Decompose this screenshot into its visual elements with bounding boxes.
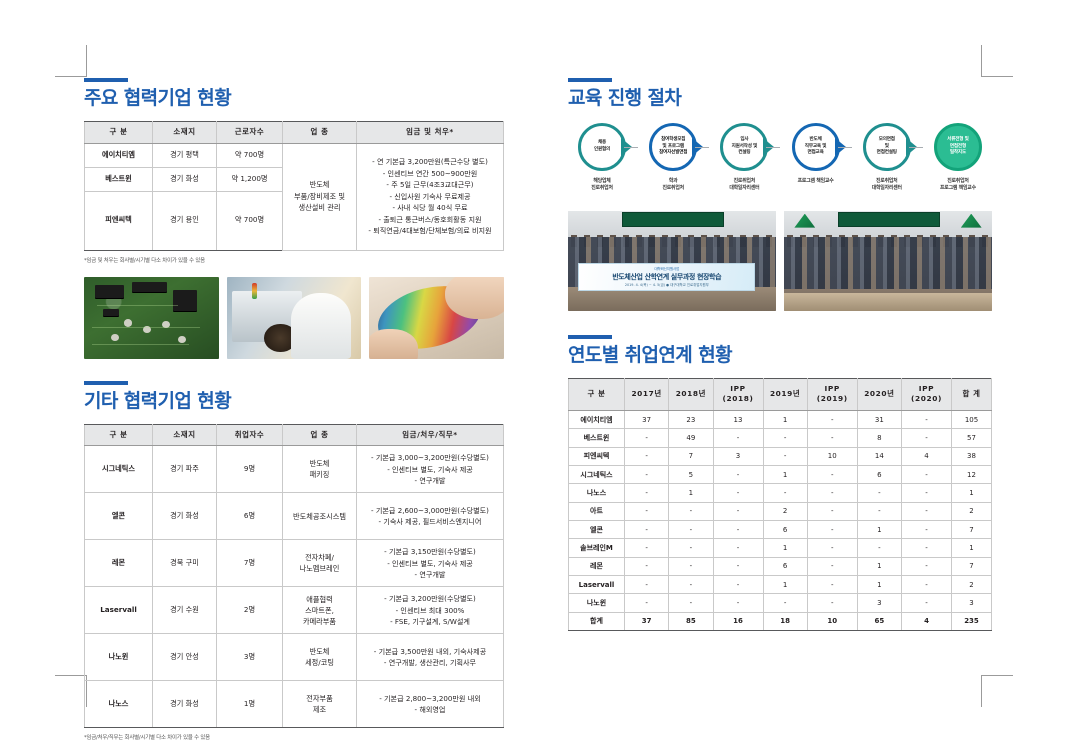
company-name: 피엔씨텍 — [85, 191, 153, 250]
value-cell-1: 5 — [669, 465, 713, 483]
value-cell-7: 57 — [952, 429, 992, 447]
value-cell-4: - — [807, 539, 857, 557]
business-type-cell: 애플협력스마트폰,카메라부품 — [283, 587, 357, 634]
business-type-cell: 전자부품제조 — [283, 681, 357, 728]
value-cell-4: - — [807, 429, 857, 447]
section-rule — [568, 335, 612, 339]
business-line: 반도체 — [286, 458, 353, 469]
company-workers: 약 700명 — [217, 191, 283, 250]
table-row: 에이치티엠 경기 평택 약 700명 반도체 부품/장비제조 및 생산설비 관리… — [85, 143, 504, 167]
value-cell-0: - — [625, 539, 669, 557]
table-row: Laservall경기 수원2명애플협력스마트폰,카메라부품- 기본급 3,20… — [85, 587, 504, 634]
value-cell-4: - — [807, 594, 857, 612]
document-page: 주요 협력기업 현황 구 분 소재지 근로자수 업 종 임금 및 처우* — [0, 0, 1068, 752]
value-cell-5: 31 — [857, 410, 901, 428]
completion-ceremony-photo — [784, 211, 992, 311]
table-total-row: 합계3785161810654235 — [569, 612, 992, 630]
wage-item: - 사내 식당 월 40식 무료 — [360, 202, 500, 213]
hired-count: 1명 — [217, 681, 283, 728]
company-name: 합계 — [569, 612, 625, 630]
company-name: 엘콘 — [85, 493, 153, 540]
flow-step-label: 입사지원서작성 및컨설팅 — [732, 137, 758, 157]
business-line: 전자부품 — [286, 693, 353, 704]
value-cell-3: 1 — [763, 575, 807, 593]
company-name: 솔브레인M — [569, 539, 625, 557]
col-header-hired: 취업자수 — [217, 424, 283, 446]
company-name: 에이치티엠 — [569, 410, 625, 428]
flow-step-owner: 진로취업처대학일자리센터 — [872, 178, 902, 193]
table-row: 나노스경기 화성1명전자부품제조- 기본급 2,800~3,200만원 내외- … — [85, 681, 504, 728]
value-cell-2: 13 — [713, 410, 763, 428]
value-cell-2: - — [713, 465, 763, 483]
value-cell-0: - — [625, 520, 669, 538]
wage-duty-cell: - 기본급 3,500만원 내외, 기숙사제공- 연구개발, 생산관리, 기획사… — [357, 634, 504, 681]
wage-duty-cell: - 기본급 3,150만원(수당별도)- 인센티브 별도, 기숙사 제공- 연구… — [357, 540, 504, 587]
section-rule — [84, 381, 128, 385]
value-cell-5: 1 — [857, 520, 901, 538]
table-row: 시그네틱스-5-1-6-12 — [569, 465, 992, 483]
value-cell-5: 1 — [857, 557, 901, 575]
cleanroom-worker-photo — [227, 277, 362, 359]
value-cell-1: 23 — [669, 410, 713, 428]
education-process-flow: 채용인원협의해당업체진로취업처참여학생모집및 프로그램참여자선발면접학과진로취업… — [568, 123, 992, 193]
flow-step-circle: 반도체직무교육 및면접교육 — [792, 123, 840, 171]
company-location: 경기 안성 — [153, 634, 217, 681]
section-title: 연도별 취업연계 현황 — [568, 345, 992, 366]
value-cell-5: 65 — [857, 612, 901, 630]
business-line: 패키징 — [286, 469, 353, 480]
value-cell-2: - — [713, 557, 763, 575]
company-name: 나노윈 — [569, 594, 625, 612]
hired-count: 3명 — [217, 634, 283, 681]
flow-step-owner: 학과진로취업처 — [662, 178, 684, 193]
table-header-row: 구 분2017년2018년IPP (2018)2019년IPP (2019)20… — [569, 378, 992, 410]
value-cell-0: 37 — [625, 410, 669, 428]
value-cell-3: - — [763, 594, 807, 612]
value-cell-0: - — [625, 465, 669, 483]
col-header-business: 업 종 — [283, 424, 357, 446]
value-cell-7: 1 — [952, 484, 992, 502]
business-line-2: 부품/장비제조 및 — [286, 191, 353, 203]
value-cell-6: - — [902, 484, 952, 502]
flow-step-4[interactable]: 반도체직무교육 및면접교육프로그램 책임교수 — [784, 123, 848, 185]
company-name: 베스트윈 — [569, 429, 625, 447]
flow-step-label: 서류전형 및면접전형밀착지도 — [947, 137, 969, 157]
wage-duty-cell: - 기본급 3,000~3,200만원(수당별도)- 인센티브 별도, 기숙사 … — [357, 446, 504, 493]
value-cell-2: 3 — [713, 447, 763, 465]
value-cell-2: - — [713, 484, 763, 502]
table-row: 나노윈-----3-3 — [569, 594, 992, 612]
flow-step-circle: 참여학생모집및 프로그램참여자선발면접 — [649, 123, 697, 171]
table-row: Laservall---1-1-2 — [569, 575, 992, 593]
flow-step-owner: 진로취업처대학일자리센터 — [729, 178, 759, 193]
value-cell-7: 7 — [952, 557, 992, 575]
value-cell-6: - — [902, 410, 952, 428]
value-cell-0: - — [625, 575, 669, 593]
other-partner-table: 구 분 소재지 취업자수 업 종 임금/처우/직무* 시그네틱스경기 파주9명반… — [84, 424, 504, 729]
business-type-cell: 반도체공조시스템 — [283, 493, 357, 540]
wage-duty-item: - 연구개발 — [360, 569, 500, 580]
value-cell-2: - — [713, 539, 763, 557]
value-cell-3: - — [763, 484, 807, 502]
value-cell-6: - — [902, 520, 952, 538]
value-cell-4: - — [807, 557, 857, 575]
company-name: Laservall — [569, 575, 625, 593]
company-name: 나노스 — [569, 484, 625, 502]
table-row: 엘콘경기 화성6명반도체공조시스템- 기본급 2,600~3,000만원(수당별… — [85, 493, 504, 540]
value-cell-7: 2 — [952, 575, 992, 593]
business-line: 나노멤브레인 — [286, 563, 353, 574]
company-workers: 약 1,200명 — [217, 167, 283, 191]
value-cell-1: - — [669, 539, 713, 557]
flow-step-owner: 프로그램 책임교수 — [798, 178, 834, 185]
value-cell-6: - — [902, 429, 952, 447]
value-cell-2: - — [713, 502, 763, 520]
company-location: 경기 화성 — [153, 493, 217, 540]
crop-mark-bottom-right — [981, 675, 1013, 707]
company-name: 아트 — [569, 502, 625, 520]
wage-duty-item: - 기본급 3,000~3,200만원(수당별도) — [360, 452, 500, 463]
value-cell-6: - — [902, 539, 952, 557]
wage-duty-cell: - 기본급 2,800~3,200만원 내외- 해외영업 — [357, 681, 504, 728]
value-cell-6: - — [902, 502, 952, 520]
value-cell-5: - — [857, 484, 901, 502]
wage-duty-item: - 연구개발 — [360, 475, 500, 486]
wage-duty-item: - 기본급 2,600~3,000만원(수당별도) — [360, 505, 500, 516]
flow-step-owner: 해당업체진로취업처 — [591, 178, 613, 193]
table-row: 레몬경북 구미7명전자차폐/나노멤브레인- 기본급 3,150만원(수당별도)-… — [85, 540, 504, 587]
value-cell-7: 7 — [952, 520, 992, 538]
flow-step-6[interactable]: 서류전형 및면접전형밀착지도진로취업처프로그램 책임교수 — [926, 123, 990, 193]
value-cell-2: - — [713, 575, 763, 593]
section-rule — [568, 78, 612, 82]
banner-main-text: 반도체산업 산학연계 실무과정 현장학습 — [612, 272, 721, 282]
hired-count: 6명 — [217, 493, 283, 540]
section-yearly-employment: 연도별 취업연계 현황 구 분2017년2018년IPP (2018)2019년… — [568, 335, 992, 631]
wage-duty-cell: - 기본급 3,200만원(수당별도)- 인센티브 최대 300%- FSE, … — [357, 587, 504, 634]
value-cell-7: 12 — [952, 465, 992, 483]
crop-mark-top-right — [981, 45, 1013, 77]
value-cell-6: 4 — [902, 612, 952, 630]
value-cell-3: 18 — [763, 612, 807, 630]
pcb-board-photo — [84, 277, 219, 359]
value-cell-0: - — [625, 557, 669, 575]
value-cell-5: 8 — [857, 429, 901, 447]
flow-step-1[interactable]: 채용인원협의해당업체진로취업처 — [570, 123, 634, 193]
business-line: 카메라부품 — [286, 616, 353, 627]
col-header-8: 합 계 — [952, 378, 992, 410]
col-header-4: 2019년 — [763, 378, 807, 410]
section-title: 교육 진행 절차 — [568, 88, 992, 109]
table-header-row: 구 분 소재지 근로자수 업 종 임금 및 처우* — [85, 121, 504, 143]
value-cell-3: - — [763, 429, 807, 447]
col-header-3: IPP (2018) — [713, 378, 763, 410]
hired-count: 2명 — [217, 587, 283, 634]
value-cell-1: - — [669, 520, 713, 538]
col-header-business: 업 종 — [283, 121, 357, 143]
flow-connector-line — [909, 147, 923, 148]
value-cell-5: 3 — [857, 594, 901, 612]
table-row: 에이치티엠3723131-31-105 — [569, 410, 992, 428]
company-name: 엘콘 — [569, 520, 625, 538]
business-type-cell: 전자차폐/나노멤브레인 — [283, 540, 357, 587]
wage-item: - 주 5일 근무(4조3교대근무) — [360, 179, 500, 190]
value-cell-7: 105 — [952, 410, 992, 428]
company-name: 나노윈 — [85, 634, 153, 681]
wage-item: - 신입사원 기숙사 무료제공 — [360, 191, 500, 202]
value-cell-2: - — [713, 594, 763, 612]
company-location: 경기 화성 — [153, 167, 217, 191]
flow-connector-line — [695, 147, 709, 148]
col-header-0: 구 분 — [569, 378, 625, 410]
business-line: 애플협력 — [286, 594, 353, 605]
table-row: 시그네틱스경기 파주9명반도체패키징- 기본급 3,000~3,200만원(수당… — [85, 446, 504, 493]
value-cell-5: - — [857, 502, 901, 520]
company-name: Laservall — [85, 587, 153, 634]
value-cell-5: - — [857, 539, 901, 557]
wage-duty-item: - 기본급 3,200만원(수당별도) — [360, 593, 500, 604]
hired-count: 9명 — [217, 446, 283, 493]
business-line: 스마트폰, — [286, 605, 353, 616]
wage-duty-item: - 기본급 2,800~3,200만원 내외 — [360, 693, 500, 704]
value-cell-0: - — [625, 594, 669, 612]
col-header-location: 소재지 — [153, 121, 217, 143]
col-header-division: 구 분 — [85, 424, 153, 446]
value-cell-3: 2 — [763, 502, 807, 520]
flow-step-circle: 입사지원서작성 및컨설팅 — [720, 123, 768, 171]
value-cell-4: 10 — [807, 447, 857, 465]
left-photo-strip — [84, 277, 504, 359]
value-cell-1: 1 — [669, 484, 713, 502]
value-cell-6: - — [902, 557, 952, 575]
value-cell-5: 14 — [857, 447, 901, 465]
right-column: 교육 진행 절차 채용인원협의해당업체진로취업처참여학생모집및 프로그램참여자선… — [568, 78, 992, 631]
wage-duty-item: - 인센티브 별도, 기숙사 제공 — [360, 464, 500, 475]
flow-connector-line — [766, 147, 780, 148]
value-cell-0: - — [625, 429, 669, 447]
wage-duty-item: - 기본급 3,150만원(수당별도) — [360, 546, 500, 557]
business-type-cell: 반도체세정/코팅 — [283, 634, 357, 681]
value-cell-6: - — [902, 594, 952, 612]
value-cell-4: - — [807, 484, 857, 502]
wage-duty-cell: - 기본급 2,600~3,000만원(수당별도)- 기숙사 제공, 필드서비스… — [357, 493, 504, 540]
col-header-2: 2018년 — [669, 378, 713, 410]
table-row: 나노스-1-----1 — [569, 484, 992, 502]
flow-step-label: 모의면접및면접컨설팅 — [877, 137, 897, 157]
flow-step-circle: 채용인원협의 — [578, 123, 626, 171]
value-cell-1: - — [669, 557, 713, 575]
company-location: 경북 구미 — [153, 540, 217, 587]
value-cell-7: 235 — [952, 612, 992, 630]
col-header-1: 2017년 — [625, 378, 669, 410]
flow-step-3[interactable]: 입사지원서작성 및컨설팅진로취업처대학일자리센터 — [712, 123, 776, 193]
table-row: 엘콘---6-1-7 — [569, 520, 992, 538]
value-cell-3: 6 — [763, 557, 807, 575]
table-row: 아트---2---2 — [569, 502, 992, 520]
flow-step-5[interactable]: 모의면접및면접컨설팅진로취업처대학일자리센터 — [855, 123, 919, 193]
value-cell-4: - — [807, 502, 857, 520]
col-header-wage-duty: 임금/처우/직무* — [357, 424, 504, 446]
business-line-1: 반도체 — [286, 179, 353, 191]
flow-step-circle: 서류전형 및면접전형밀착지도 — [934, 123, 982, 171]
col-header-location: 소재지 — [153, 424, 217, 446]
wage-duty-item: - 인센티브 별도, 기숙사 제공 — [360, 558, 500, 569]
company-name: 시그네틱스 — [569, 465, 625, 483]
value-cell-0: 37 — [625, 612, 669, 630]
value-cell-3: 6 — [763, 520, 807, 538]
company-name: 베스트윈 — [85, 167, 153, 191]
company-name: 시그네틱스 — [85, 446, 153, 493]
section-major-partner-companies: 주요 협력기업 현황 구 분 소재지 근로자수 업 종 임금 및 처우* — [84, 78, 504, 264]
section-other-partner-companies: 기타 협력기업 현황 구 분 소재지 취업자수 업 종 임금/처우/직무* 시그… — [84, 381, 504, 742]
company-name: 레몬 — [85, 540, 153, 587]
section-title: 주요 협력기업 현황 — [84, 88, 504, 109]
col-header-6: 2020년 — [857, 378, 901, 410]
value-cell-2: - — [713, 520, 763, 538]
section-rule — [84, 78, 128, 82]
flow-step-label: 반도체직무교육 및면접교육 — [805, 137, 827, 157]
crop-mark-top-left — [55, 45, 87, 77]
value-cell-4: 10 — [807, 612, 857, 630]
value-cell-0: - — [625, 484, 669, 502]
banner-bottom-text: 2019. 4. 4(목) ~ 4. 5(금) ● 대구대학교 진로취업지원부 — [625, 282, 709, 287]
section-title: 기타 협력기업 현황 — [84, 391, 504, 412]
value-cell-6: 4 — [902, 447, 952, 465]
yearly-employment-table: 구 분2017년2018년IPP (2018)2019년IPP (2019)20… — [568, 378, 992, 631]
company-name: 피엔씨텍 — [569, 447, 625, 465]
wage-item: - 퇴직연금/4대보험/단체보험/의료 비지원 — [360, 225, 500, 236]
col-header-workers: 근로자수 — [217, 121, 283, 143]
company-location: 경기 파주 — [153, 446, 217, 493]
value-cell-3: 1 — [763, 410, 807, 428]
value-cell-4: - — [807, 465, 857, 483]
wage-duty-item: - 인센티브 최대 300% — [360, 605, 500, 616]
ceremony-banner — [838, 212, 940, 227]
hired-count: 7명 — [217, 540, 283, 587]
value-cell-2: - — [713, 429, 763, 447]
value-cell-1: - — [669, 502, 713, 520]
table-row: 피엔씨텍-73-1014438 — [569, 447, 992, 465]
value-cell-6: - — [902, 575, 952, 593]
value-cell-1: 7 — [669, 447, 713, 465]
value-cell-4: - — [807, 410, 857, 428]
value-cell-1: - — [669, 594, 713, 612]
flow-step-label: 참여학생모집및 프로그램참여자선발면접 — [659, 137, 687, 157]
business-line-3: 생산설비 관리 — [286, 202, 353, 214]
value-cell-7: 2 — [952, 502, 992, 520]
company-location: 경기 수원 — [153, 587, 217, 634]
value-cell-5: 6 — [857, 465, 901, 483]
value-cell-4: - — [807, 575, 857, 593]
wage-duty-item: - 기숙사 제공, 필드서비스엔지니어 — [360, 516, 500, 527]
wage-duty-item: - 연구개발, 생산관리, 기획사무 — [360, 657, 500, 668]
table-footnote: *임금 및 처우는 회사별/시기별 다소 차이가 있을 수 있음 — [84, 256, 504, 264]
company-location: 경기 용인 — [153, 191, 217, 250]
company-name: 나노스 — [85, 681, 153, 728]
value-cell-7: 1 — [952, 539, 992, 557]
company-name: 레몬 — [569, 557, 625, 575]
company-location: 경기 화성 — [153, 681, 217, 728]
flow-step-label: 채용인원협의 — [594, 140, 610, 153]
value-cell-5: 1 — [857, 575, 901, 593]
business-line: 반도체공조시스템 — [286, 511, 353, 522]
value-cell-1: 49 — [669, 429, 713, 447]
value-cell-4: - — [807, 520, 857, 538]
flow-connector-line — [624, 147, 638, 148]
business-line: 제조 — [286, 704, 353, 715]
value-cell-3: - — [763, 447, 807, 465]
value-cell-3: 1 — [763, 539, 807, 557]
value-cell-6: - — [902, 465, 952, 483]
business-line: 반도체 — [286, 646, 353, 657]
right-photo-strip: 대학혁신지원사업 반도체산업 산학연계 실무과정 현장학습 2019. 4. 4… — [568, 211, 992, 311]
business-line: 전자차폐/ — [286, 552, 353, 563]
value-cell-3: 1 — [763, 465, 807, 483]
col-header-5: IPP (2019) — [807, 378, 857, 410]
col-header-division: 구 분 — [85, 121, 153, 143]
table-row: 레몬---6-1-7 — [569, 557, 992, 575]
flow-step-circle: 모의면접및면접컨설팅 — [863, 123, 911, 171]
flow-step-2[interactable]: 참여학생모집및 프로그램참여자선발면접학과진로취업처 — [641, 123, 705, 193]
field-study-group-photo: 대학혁신지원사업 반도체산업 산학연계 실무과정 현장학습 2019. 4. 4… — [568, 211, 776, 311]
table-header-row: 구 분 소재지 취업자수 업 종 임금/처우/직무* — [85, 424, 504, 446]
major-partner-table: 구 분 소재지 근로자수 업 종 임금 및 처우* 에이치티엠 경기 평택 약 … — [84, 121, 504, 251]
col-header-wage: 임금 및 처우* — [357, 121, 504, 143]
table-footnote: *임금/처우/직무는 회사별/시기별 다소 차이가 있을 수 있음 — [84, 733, 504, 741]
value-cell-7: 38 — [952, 447, 992, 465]
venue-sign — [622, 212, 724, 227]
business-line: 세정/코팅 — [286, 657, 353, 668]
business-type-cell: 반도체 부품/장비제조 및 생산설비 관리 — [283, 143, 357, 250]
company-location: 경기 평택 — [153, 143, 217, 167]
wage-duty-item: - FSE, 기구설계, S/W설계 — [360, 616, 500, 627]
event-banner: 대학혁신지원사업 반도체산업 산학연계 실무과정 현장학습 2019. 4. 4… — [578, 263, 755, 291]
table-row: 솔브레인M---1---1 — [569, 539, 992, 557]
flow-step-owner: 진로취업처프로그램 책임교수 — [940, 178, 976, 193]
left-column: 주요 협력기업 현황 구 분 소재지 근로자수 업 종 임금 및 처우* — [84, 78, 504, 741]
table-row: 나노윈경기 안성3명반도체세정/코팅- 기본급 3,500만원 내외, 기숙사제… — [85, 634, 504, 681]
wage-duty-item: - 기본급 3,500만원 내외, 기숙사제공 — [360, 646, 500, 657]
section-education-process: 교육 진행 절차 채용인원협의해당업체진로취업처참여학생모집및 프로그램참여자선… — [568, 78, 992, 193]
wage-duty-item: - 해외영업 — [360, 704, 500, 715]
wage-item: - 인센티브 연간 500~900만원 — [360, 168, 500, 179]
value-cell-2: 16 — [713, 612, 763, 630]
value-cell-0: - — [625, 502, 669, 520]
company-name: 에이치티엠 — [85, 143, 153, 167]
value-cell-1: - — [669, 575, 713, 593]
table-row: 베스트윈-49---8-57 — [569, 429, 992, 447]
col-header-7: IPP (2020) — [902, 378, 952, 410]
value-cell-0: - — [625, 447, 669, 465]
crop-mark-bottom-left — [55, 675, 87, 707]
value-cell-7: 3 — [952, 594, 992, 612]
wage-item: - 출퇴근 통근버스/동호회활동 지원 — [360, 214, 500, 225]
wage-benefits-cell: - 연 기본급 3,200만원(특근수당 별도) - 인센티브 연간 500~9… — [357, 143, 504, 250]
silicon-wafer-photo — [369, 277, 504, 359]
flow-connector-line — [838, 147, 852, 148]
business-type-cell: 반도체패키징 — [283, 446, 357, 493]
value-cell-1: 85 — [669, 612, 713, 630]
wage-item: - 연 기본급 3,200만원(특근수당 별도) — [360, 156, 500, 167]
company-workers: 약 700명 — [217, 143, 283, 167]
